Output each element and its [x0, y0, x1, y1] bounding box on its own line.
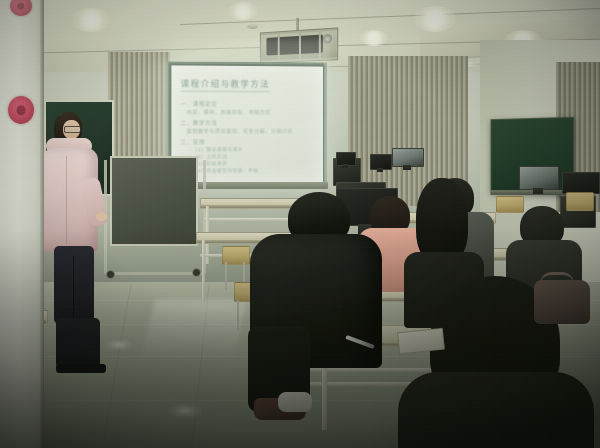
slide-bullet: 内容、模块、技能目标、考核方式 — [187, 109, 316, 116]
cage-bar — [278, 32, 280, 62]
student-shoe — [278, 392, 312, 412]
wooden-stool — [566, 192, 592, 218]
desk-leg — [202, 240, 205, 302]
monitor-stand — [403, 165, 411, 170]
cage-bar — [319, 30, 321, 61]
pillar-edge — [40, 0, 44, 448]
desktop-monitor — [392, 148, 422, 170]
instructor-hand — [96, 212, 107, 221]
projector-lens-icon — [323, 34, 332, 44]
round-red-sign — [8, 96, 34, 124]
trouser-seam — [73, 256, 74, 318]
smoke-detector-icon — [247, 24, 258, 29]
classroom-photo: 课程介绍与教学方法 一、课程定位 内容、模块、技能目标、考核方式 二、教学方法 … — [0, 0, 600, 448]
slide-bullet: （2）上机实训 — [193, 154, 315, 161]
caster-wheel-icon — [192, 268, 201, 277]
desktop-monitor — [336, 152, 354, 168]
instructor-trousers — [54, 246, 94, 324]
slide-section-heading: 三、安排 — [181, 138, 316, 146]
slide-bullet: 案例教学与项目驱动、任务分解、分组讨论 — [187, 128, 316, 135]
projector-body — [266, 34, 322, 55]
ceiling-projector — [260, 27, 338, 63]
coat-seam — [66, 156, 67, 244]
wooden-stool — [496, 196, 522, 220]
floor-light-reflection — [168, 404, 202, 418]
white-pillar — [0, 0, 44, 448]
monitor-stand — [342, 164, 347, 168]
desktop-monitor — [370, 154, 390, 172]
slide-section-heading: 二、教学方法 — [181, 119, 316, 127]
mobile-whiteboard-on-casters — [110, 156, 198, 246]
monitor-stand — [533, 188, 544, 194]
monitor-stand — [377, 168, 383, 172]
slide-title: 课程介绍与教学方法 — [181, 78, 270, 93]
downlight-icon — [72, 8, 110, 32]
cage-bar — [299, 31, 301, 61]
student-torso — [398, 372, 594, 448]
wooden-stool — [222, 246, 248, 272]
monitor-screen — [519, 166, 559, 190]
slide-bullet: （4）作业提交与答疑、考核 — [193, 168, 315, 175]
monitor-screen — [562, 172, 600, 194]
floor-light-reflection — [106, 340, 132, 350]
caster-wheel-icon — [106, 270, 115, 279]
floor-screen-reflection — [141, 300, 248, 360]
downlight-icon — [414, 6, 456, 32]
boot-sole — [56, 364, 106, 373]
slide-bullet: （3）阶段测评 — [193, 161, 315, 168]
bag-strap — [540, 272, 574, 287]
downlight-icon — [360, 30, 388, 46]
slide-section-heading: 一、课程定位 — [181, 100, 316, 108]
downlight-icon — [228, 2, 258, 20]
desktop-monitor — [519, 166, 557, 194]
eyeglasses-icon — [64, 126, 81, 133]
slide-bullet: （1）理论讲授与演示 — [193, 147, 315, 153]
